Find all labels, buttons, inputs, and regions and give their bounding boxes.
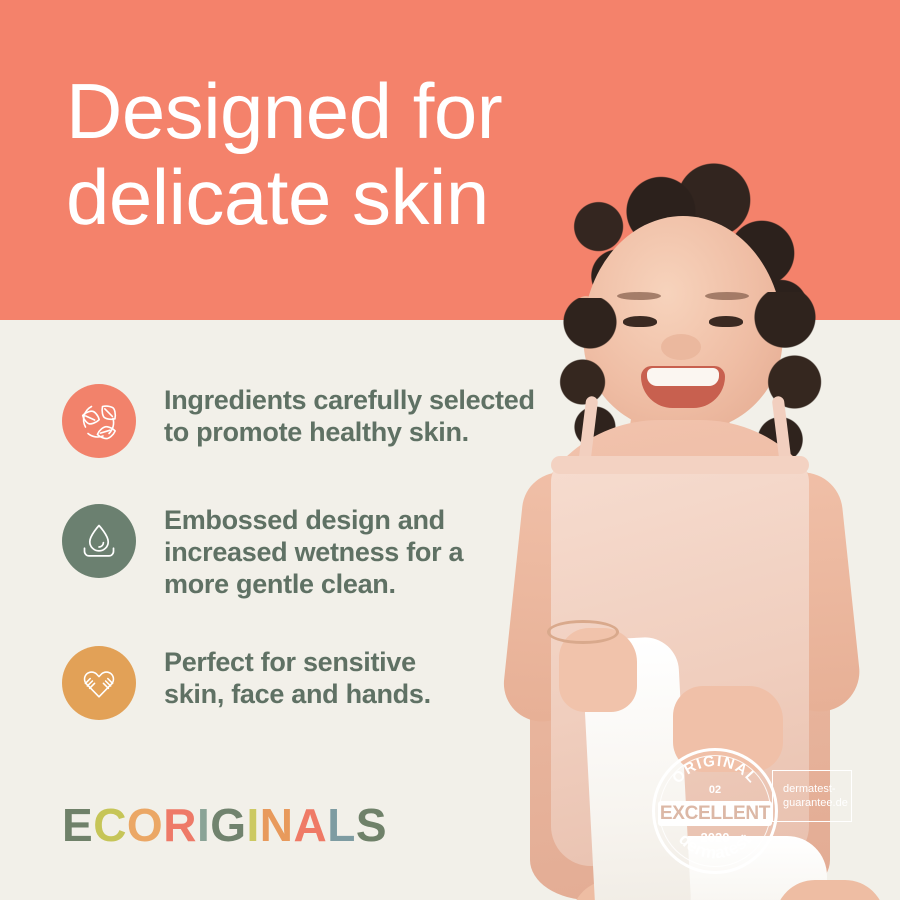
logo-letter: A [294, 798, 328, 852]
product-feature-poster: Designed for delicate skin [0, 0, 900, 900]
teeth [647, 368, 719, 386]
feature-item-sensitive-skin: Perfect for sensitive skin, face and han… [62, 644, 582, 720]
dermatest-excellent-seal: ORIGINAL dermatest 02 EXCELLENT 2020 [652, 748, 778, 874]
logo-letter: N [260, 798, 294, 852]
tank-top-ribbed-band [551, 456, 809, 474]
feature-label-sensitive-skin: Perfect for sensitive skin, face and han… [164, 644, 431, 710]
seal-year: 2020 [652, 830, 778, 845]
seal-number: 02 [652, 784, 778, 796]
eyebrow-left [617, 292, 661, 300]
seal-grade-badge: EXCELLENT [658, 801, 772, 826]
svg-text:ORIGINAL: ORIGINAL [669, 753, 761, 787]
dermatest-guarantee-box[interactable]: dermatest- guarantee.de [772, 770, 852, 822]
feature-item-embossed-design: Embossed design and increased wetness fo… [62, 502, 582, 600]
logo-letter: C [93, 798, 127, 852]
feature-item-ingredients: Ingredients carefully selected to promot… [62, 382, 582, 458]
logo-letter: L [327, 798, 356, 852]
logo-letter: G [210, 798, 246, 852]
eye-right [709, 316, 743, 327]
dermatest-guarantee-url: dermatest- guarantee.de [783, 782, 848, 810]
eyebrow-right [705, 292, 749, 300]
feature-label-embossed-design: Embossed design and increased wetness fo… [164, 502, 463, 600]
leaves-recycle-icon [62, 384, 136, 458]
feature-label-ingredients: Ingredients carefully selected to promot… [164, 382, 535, 448]
nose [661, 334, 701, 360]
seal-arc-top-label: ORIGINAL [669, 753, 761, 787]
logo-letter: R [163, 798, 197, 852]
ecoriginals-logo: ECORIGINALS [62, 798, 387, 852]
logo-letter: I [197, 798, 210, 852]
eye-left [623, 316, 657, 327]
water-droplet-icon [62, 504, 136, 578]
logo-letter: O [127, 798, 163, 852]
smiling-mouth [641, 366, 725, 408]
hands-heart-icon [62, 646, 136, 720]
feature-list: Ingredients carefully selected to promot… [62, 382, 582, 764]
logo-letter: E [62, 798, 93, 852]
logo-letter: I [247, 798, 260, 852]
logo-letter: S [356, 798, 387, 852]
